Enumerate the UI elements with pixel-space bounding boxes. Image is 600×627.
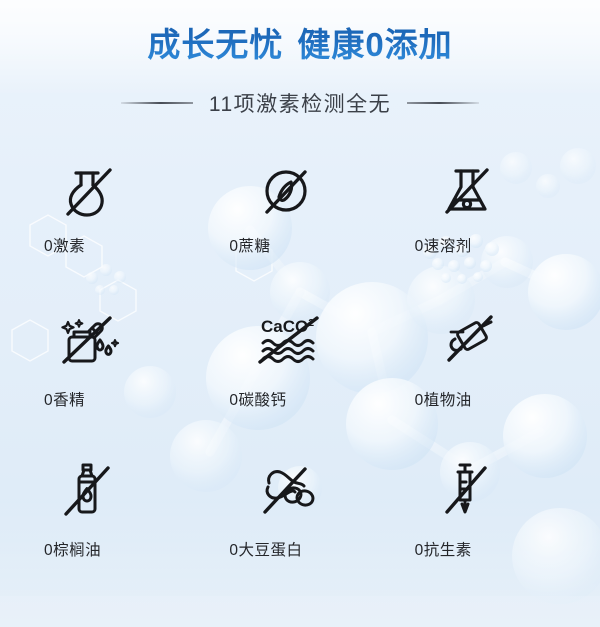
promo-page: 成长无忧健康0添加 11项激素检测全无 0激素 xyxy=(0,0,600,627)
benefit-item-vegetable-oil: 0植物油 xyxy=(393,304,578,454)
divider-line-right xyxy=(407,102,479,104)
benefit-item-instant-solvent: 0速溶剂 xyxy=(393,154,578,304)
benefit-item-soy-protein: 0大豆蛋白 xyxy=(207,454,392,604)
benefit-item-fragrance: 0香精 xyxy=(22,304,207,454)
page-title: 成长无忧健康0添加 xyxy=(147,22,452,68)
benefit-label: 0碳酸钙 xyxy=(229,388,286,410)
benefit-grid: 0激素 0蔗糖 xyxy=(0,154,600,604)
benefit-label: 0蔗糖 xyxy=(229,234,270,256)
benefit-label: 0植物油 xyxy=(415,388,472,410)
flask-conical-slashed-icon xyxy=(415,154,499,228)
benefit-item-antibiotics: 0抗生素 xyxy=(393,454,578,604)
benefit-item-calcium-carbonate: CaCO2 0碳酸钙 xyxy=(207,304,392,454)
benefit-label: 0大豆蛋白 xyxy=(229,538,302,560)
page-subtitle: 11项激素检测全无 xyxy=(209,88,391,118)
header: 成长无忧健康0添加 11项激素检测全无 xyxy=(0,0,600,118)
benefit-label: 0棕榈油 xyxy=(44,538,101,560)
benefit-label: 0香精 xyxy=(44,388,85,410)
benefit-item-hormone: 0激素 xyxy=(22,154,207,304)
oil-jug-slashed-icon xyxy=(415,304,501,378)
benefit-item-palm-oil: 0棕榈油 xyxy=(22,454,207,604)
soybean-slashed-icon xyxy=(229,454,321,528)
caco3-waves-slashed-icon: CaCO2 xyxy=(229,304,327,378)
benefit-item-sucrose: 0蔗糖 xyxy=(207,154,392,304)
palm-oil-bottle-slashed-icon xyxy=(44,454,116,528)
divider-line-left xyxy=(121,102,193,104)
flask-round-slashed-icon xyxy=(44,154,120,228)
dropper-bottle-slashed-icon xyxy=(44,304,124,378)
sugar-circle-slashed-icon xyxy=(229,154,317,228)
benefit-label: 0速溶剂 xyxy=(415,234,472,256)
page-title-part-2: 健康0添加 xyxy=(297,26,452,63)
subtitle-row: 11项激素检测全无 xyxy=(0,88,600,118)
benefit-label: 0抗生素 xyxy=(415,538,472,560)
page-title-part-1: 成长无忧 xyxy=(147,26,283,63)
syringe-slashed-icon xyxy=(415,454,495,528)
benefit-label: 0激素 xyxy=(44,234,85,256)
